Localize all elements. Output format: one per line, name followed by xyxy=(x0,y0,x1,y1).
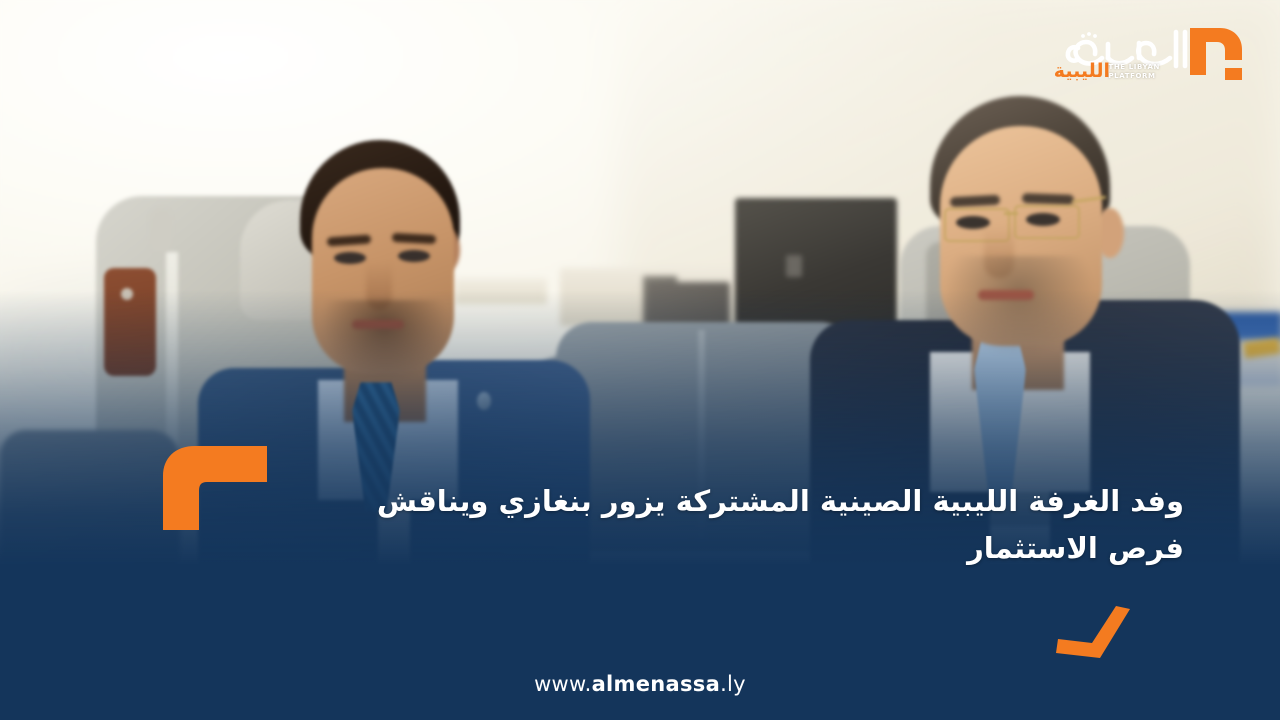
url-prefix: www. xyxy=(534,672,591,696)
man-right-beard xyxy=(946,256,1092,356)
man-right-eyeglasses-bridge xyxy=(1004,212,1018,215)
headline-line-2: فرص الاستثمار xyxy=(967,531,1184,565)
man-right-eyeglasses-lens-right xyxy=(1014,205,1080,239)
news-card: الليبية THE LIBYAN PLATFORM وفد الغرفة ا… xyxy=(0,0,1280,720)
url-name: almenassa xyxy=(592,672,721,696)
man-left-eye-left xyxy=(334,252,366,264)
logo-subtitle-english: THE LIBYAN PLATFORM xyxy=(1108,63,1160,81)
office-chair-left-bolt xyxy=(121,288,133,300)
url-tld: .ly xyxy=(720,672,746,696)
office-chair-left-frame xyxy=(150,208,172,252)
man-left-beard xyxy=(322,300,446,382)
headline: وفد الغرفة الليبية الصينية المشتركة يزور… xyxy=(160,478,1184,572)
almenassa-logo[interactable]: الليبية THE LIBYAN PLATFORM xyxy=(1038,14,1258,88)
man-left-eye-right xyxy=(398,250,430,262)
headline-line-1: وفد الغرفة الليبية الصينية المشتركة يزور… xyxy=(377,484,1184,518)
website-url[interactable]: www.almenassa.ly xyxy=(0,672,1280,696)
man-left-mouth xyxy=(352,320,404,329)
man-right-eyebrow-right xyxy=(1022,193,1074,205)
office-cabinet-small xyxy=(455,278,547,304)
monitor-logo-mark xyxy=(786,255,802,277)
orange-angle-decor-icon xyxy=(1056,606,1130,658)
logo-subtitle-arabic: الليبية xyxy=(1054,60,1110,82)
man-left-lapel-pin xyxy=(477,392,491,410)
office-chair-far-left xyxy=(0,430,180,580)
man-right-mouth xyxy=(978,290,1034,300)
office-chair-left-armrest xyxy=(104,268,156,376)
